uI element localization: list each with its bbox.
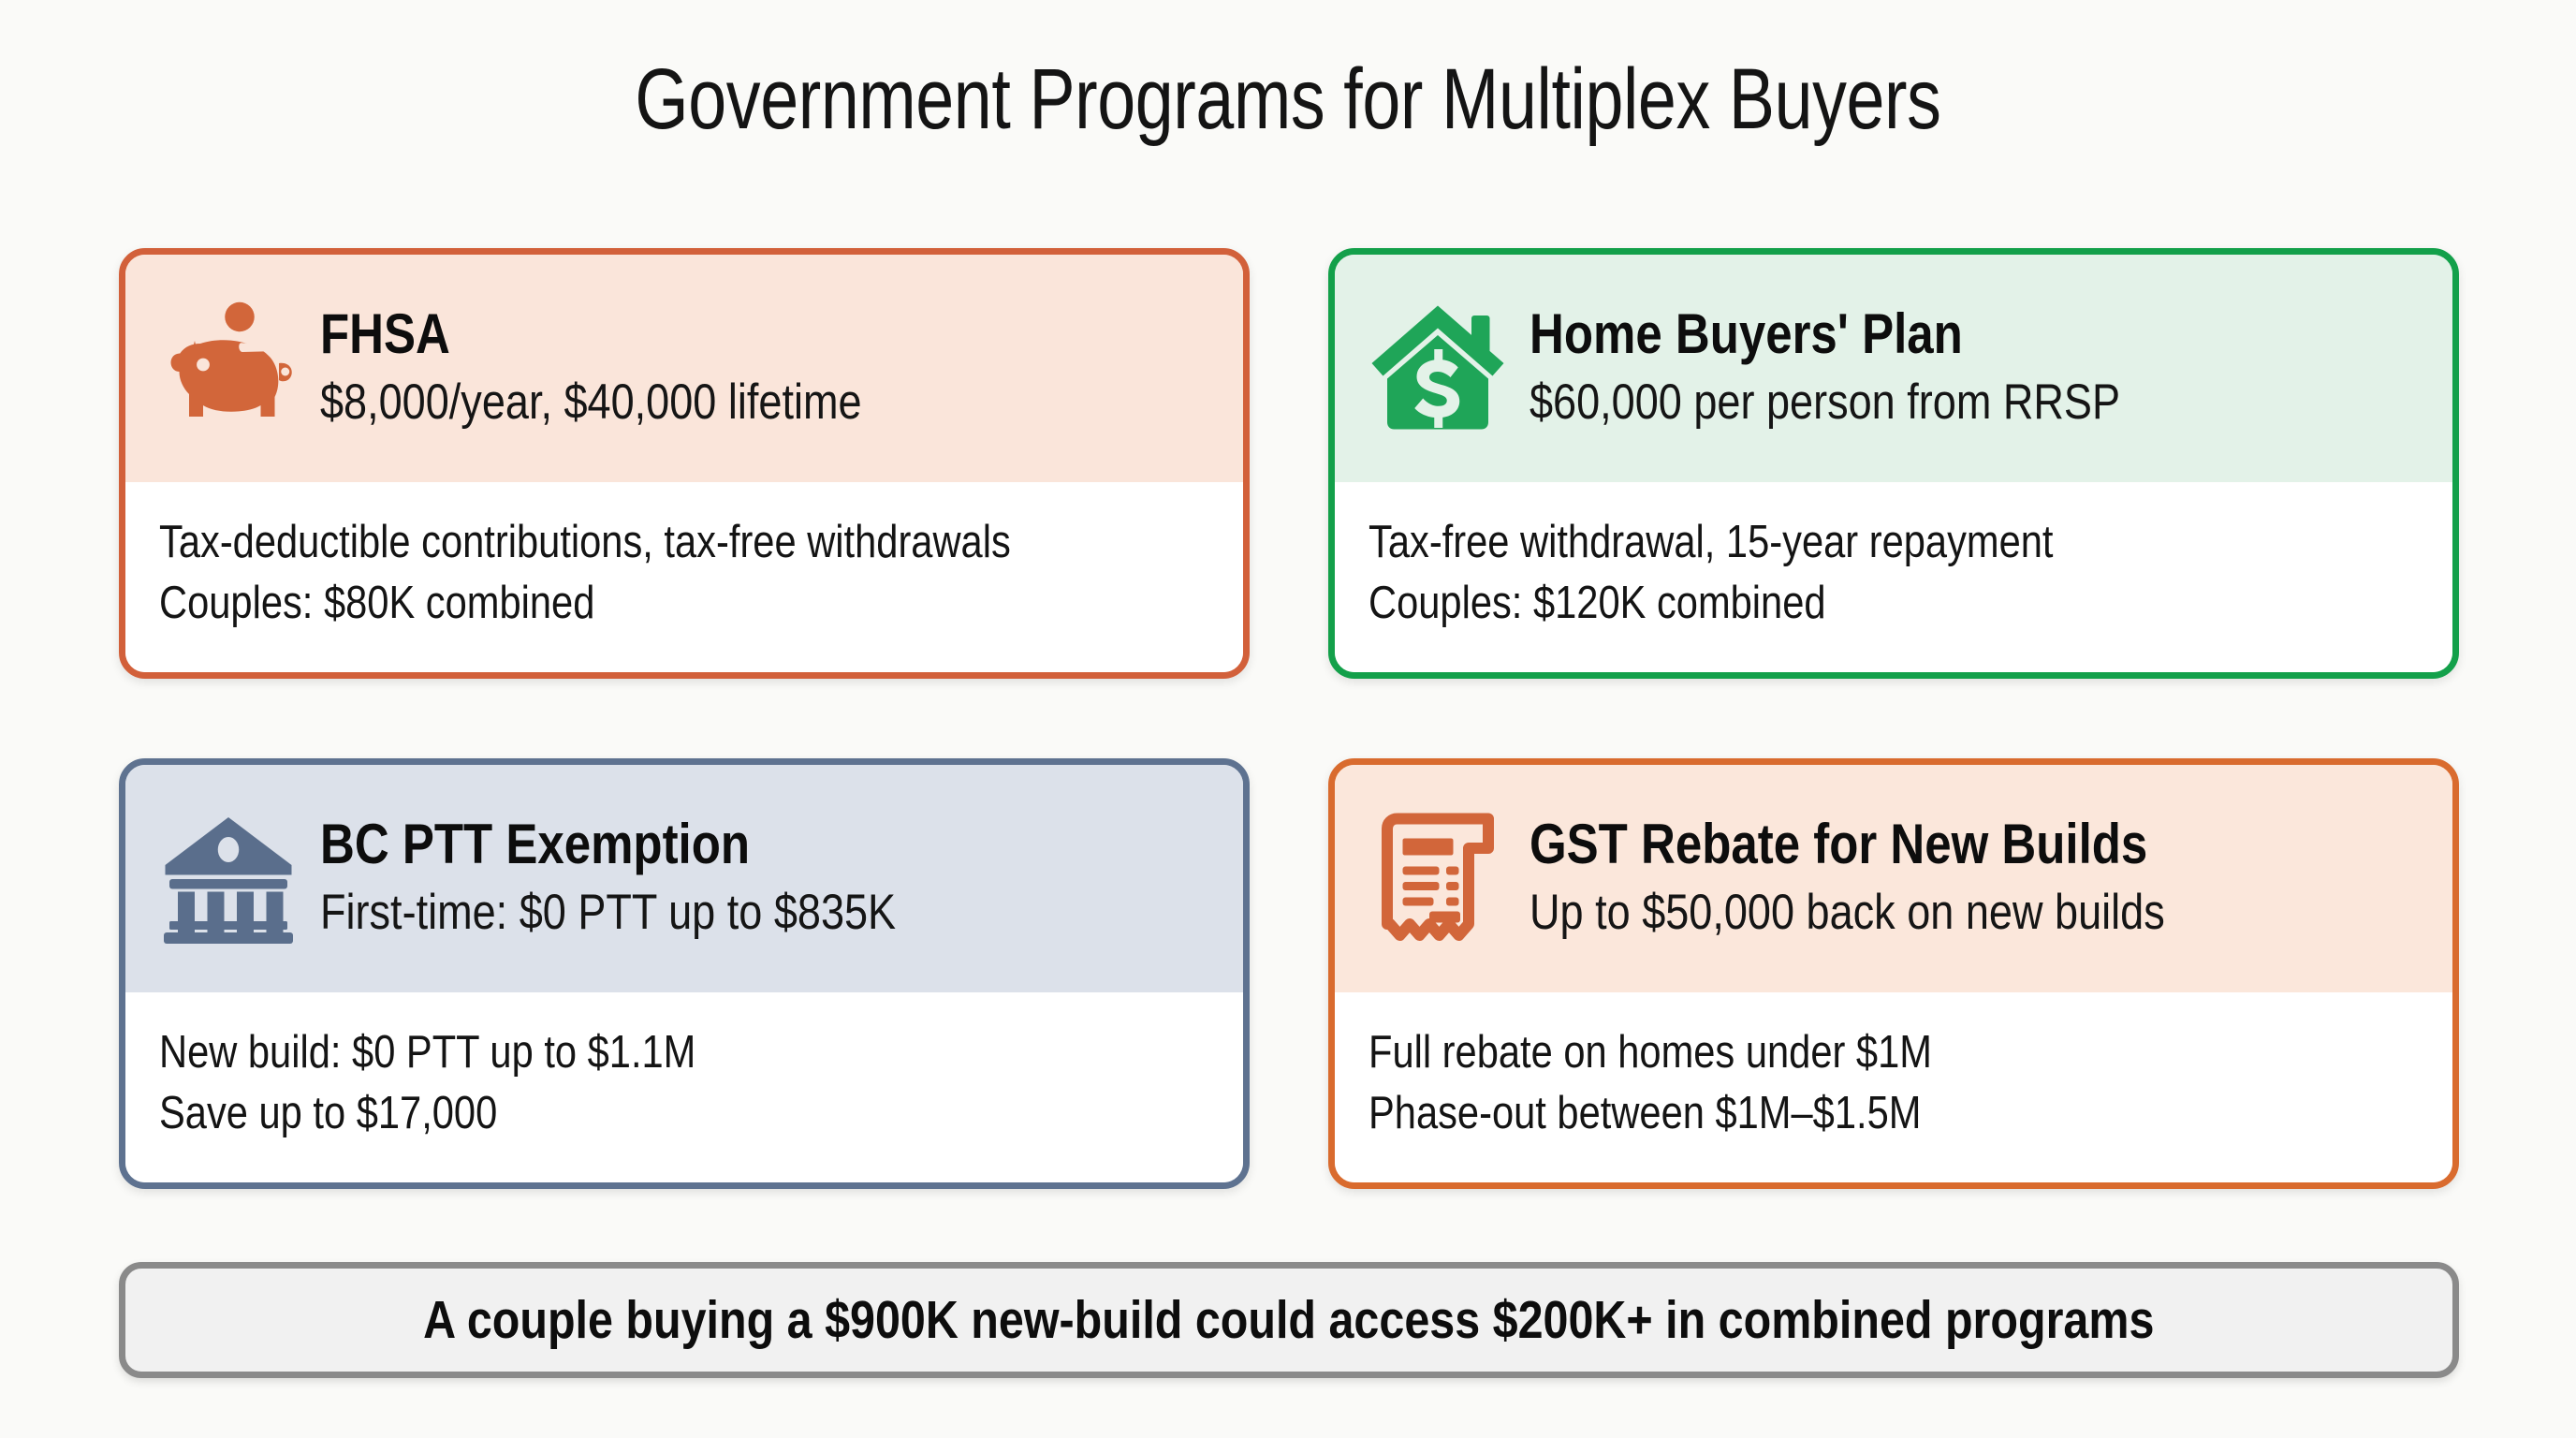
card-body-home-buyers-plan: Tax-free withdrawal, 15-year repayment C… (1335, 482, 2452, 672)
page-title: Government Programs for Multiplex Buyers (257, 54, 2319, 145)
card-header-text-bc-ptt-exemption: BC PTT Exemption First-time: $0 PTT up t… (320, 814, 1215, 942)
program-card-grid: FHSA $8,000/year, $40,000 lifetime Tax-d… (119, 248, 2459, 1189)
card-title-home-buyers-plan: Home Buyers' Plan (1529, 304, 2291, 364)
card-header-text-fhsa: FHSA $8,000/year, $40,000 lifetime (320, 304, 1215, 432)
card-detail-line-1-fhsa: Tax-deductible contributions, tax-free w… (159, 512, 1052, 573)
bank-building-icon (157, 808, 300, 950)
card-title-gst-rebate: GST Rebate for New Builds (1529, 814, 2291, 874)
card-body-fhsa: Tax-deductible contributions, tax-free w… (125, 482, 1243, 672)
card-detail-line-1-home-buyers-plan: Tax-free withdrawal, 15-year repayment (1368, 512, 2261, 573)
card-subtitle-fhsa: $8,000/year, $40,000 lifetime (320, 374, 1081, 433)
card-subtitle-gst-rebate: Up to $50,000 back on new builds (1529, 884, 2291, 943)
house-dollar-icon (1367, 298, 1509, 440)
card-detail-line-1-bc-ptt-exemption: New build: $0 PTT up to $1.1M (159, 1022, 1052, 1083)
program-card-bc-ptt-exemption[interactable]: BC PTT Exemption First-time: $0 PTT up t… (119, 758, 1250, 1189)
card-body-gst-rebate: Full rebate on homes under $1M Phase-out… (1335, 992, 2452, 1182)
card-detail-line-2-home-buyers-plan: Couples: $120K combined (1368, 573, 2261, 634)
card-header-gst-rebate: GST Rebate for New Builds Up to $50,000 … (1335, 765, 2452, 992)
card-subtitle-home-buyers-plan: $60,000 per person from RRSP (1529, 374, 2291, 433)
card-detail-line-2-gst-rebate: Phase-out between $1M–$1.5M (1368, 1083, 2261, 1144)
receipt-icon (1367, 808, 1509, 950)
card-header-bc-ptt-exemption: BC PTT Exemption First-time: $0 PTT up t… (125, 765, 1243, 992)
piggy-bank-icon (157, 298, 300, 440)
card-detail-line-2-bc-ptt-exemption: Save up to $17,000 (159, 1083, 1052, 1144)
program-card-home-buyers-plan[interactable]: Home Buyers' Plan $60,000 per person fro… (1328, 248, 2459, 679)
program-card-fhsa[interactable]: FHSA $8,000/year, $40,000 lifetime Tax-d… (119, 248, 1250, 679)
card-detail-line-2-fhsa: Couples: $80K combined (159, 573, 1052, 634)
card-detail-line-1-gst-rebate: Full rebate on homes under $1M (1368, 1022, 2261, 1083)
program-card-gst-rebate[interactable]: GST Rebate for New Builds Up to $50,000 … (1328, 758, 2459, 1189)
card-header-home-buyers-plan: Home Buyers' Plan $60,000 per person fro… (1335, 255, 2452, 482)
summary-banner-text: A couple buying a $900K new-build could … (423, 1289, 2154, 1351)
card-header-text-gst-rebate: GST Rebate for New Builds Up to $50,000 … (1529, 814, 2424, 942)
card-title-fhsa: FHSA (320, 304, 1081, 364)
summary-banner: A couple buying a $900K new-build could … (119, 1262, 2459, 1378)
card-body-bc-ptt-exemption: New build: $0 PTT up to $1.1M Save up to… (125, 992, 1243, 1182)
card-header-fhsa: FHSA $8,000/year, $40,000 lifetime (125, 255, 1243, 482)
card-title-bc-ptt-exemption: BC PTT Exemption (320, 814, 1081, 874)
card-subtitle-bc-ptt-exemption: First-time: $0 PTT up to $835K (320, 884, 1081, 943)
card-header-text-home-buyers-plan: Home Buyers' Plan $60,000 per person fro… (1529, 304, 2424, 432)
